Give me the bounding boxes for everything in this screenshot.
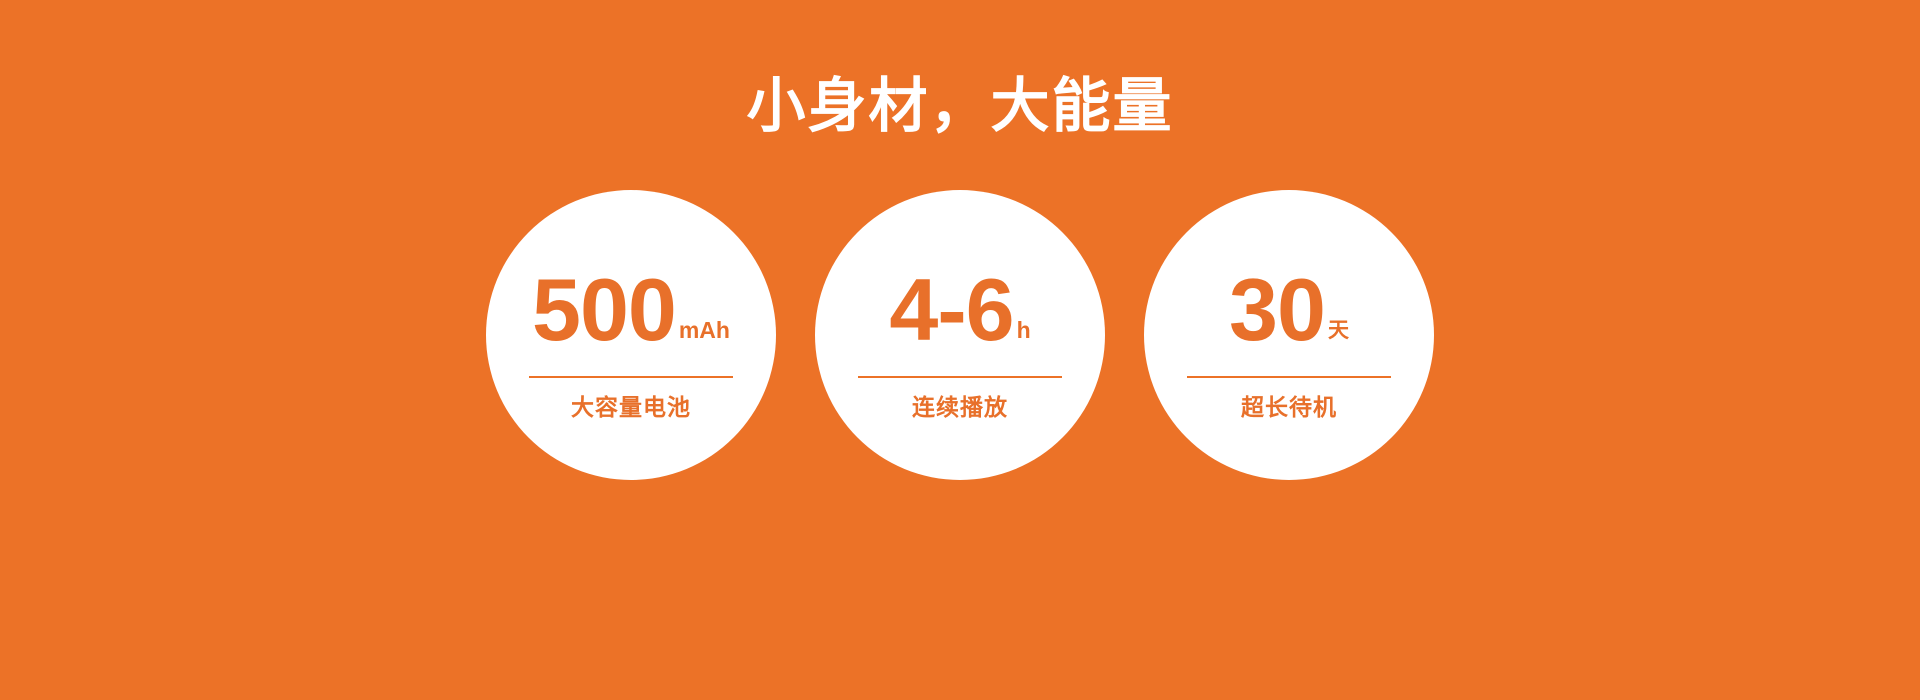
battery-spec-banner: 小身材，大能量 500 mAh 大容量电池 4-6 h 连续播放 30 天	[0, 0, 1920, 700]
stat-value-row: 30 天	[1144, 268, 1434, 360]
stat-unit: h	[1017, 319, 1031, 342]
stat-divider	[858, 376, 1062, 378]
stat-circle-playback-time: 4-6 h 连续播放	[815, 190, 1105, 480]
stat-value: 30	[1229, 268, 1325, 352]
stat-value-row: 4-6 h	[815, 268, 1105, 360]
stat-circle-battery-capacity: 500 mAh 大容量电池	[486, 190, 776, 480]
stat-value-row: 500 mAh	[486, 268, 776, 360]
stat-divider	[1187, 376, 1391, 378]
stat-label: 超长待机	[1144, 394, 1434, 422]
stat-unit: mAh	[679, 319, 730, 342]
stat-label: 大容量电池	[486, 394, 776, 422]
stats-circle-row: 500 mAh 大容量电池 4-6 h 连续播放 30 天 超长待机	[0, 190, 1920, 480]
stat-circle-standby-time: 30 天 超长待机	[1144, 190, 1434, 480]
stat-label: 连续播放	[815, 394, 1105, 422]
stat-value: 500	[532, 268, 676, 352]
stat-value: 4-6	[889, 268, 1013, 352]
stat-divider	[529, 376, 733, 378]
stat-unit: 天	[1328, 320, 1349, 341]
page-title: 小身材，大能量	[0, 74, 1920, 139]
